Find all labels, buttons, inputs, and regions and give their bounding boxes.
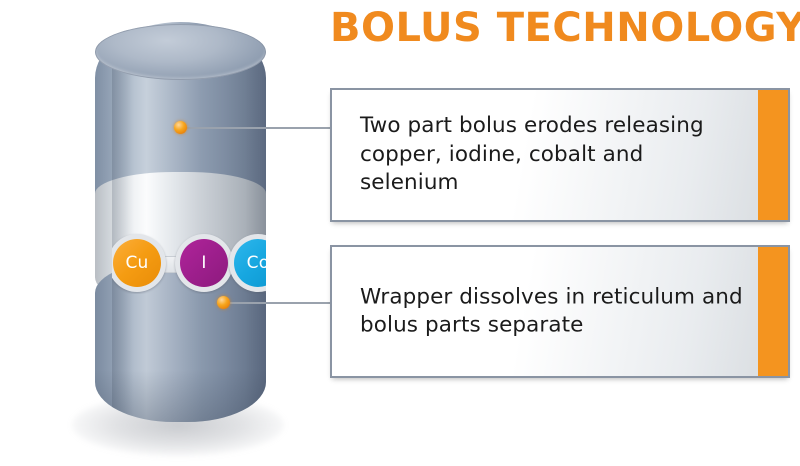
element-symbol-co: Co xyxy=(234,239,266,287)
page-title: BOLUS TECHNOLOGY xyxy=(330,8,792,48)
element-bead-copper: Cu xyxy=(112,234,166,292)
bolus-top-cap-rim xyxy=(95,24,266,80)
callout-leader-line-1 xyxy=(180,127,332,129)
element-bead-iodine: I xyxy=(175,234,233,292)
callout-marker-dot-1 xyxy=(174,121,187,134)
callout-box-2: Wrapper dissolves in reticulum and bolus… xyxy=(330,245,790,378)
infographic-canvas: BOLUS TECHNOLOGY Cu I xyxy=(0,0,800,466)
element-symbol-cu: Cu xyxy=(113,239,161,287)
callout-box-1: Two part bolus erodes releasing copper, … xyxy=(330,88,790,222)
callout-marker-dot-2 xyxy=(217,296,230,309)
callout-leader-line-2 xyxy=(223,302,333,304)
bolus-body: Cu I Co Se xyxy=(95,22,266,422)
callout-accent-bar-2 xyxy=(758,247,788,376)
bolus-cylinder-illustration: Cu I Co Se xyxy=(78,22,278,442)
callout-accent-bar-1 xyxy=(758,90,788,220)
callout-text-2: Wrapper dissolves in reticulum and bolus… xyxy=(360,283,744,340)
element-bead-cobalt: Co xyxy=(229,234,266,292)
element-symbol-i: I xyxy=(180,239,228,287)
callout-text-1: Two part bolus erodes releasing copper, … xyxy=(360,112,744,198)
trace-element-row: Cu I Co Se xyxy=(112,232,266,294)
bolus-bottom-shading xyxy=(95,370,266,422)
